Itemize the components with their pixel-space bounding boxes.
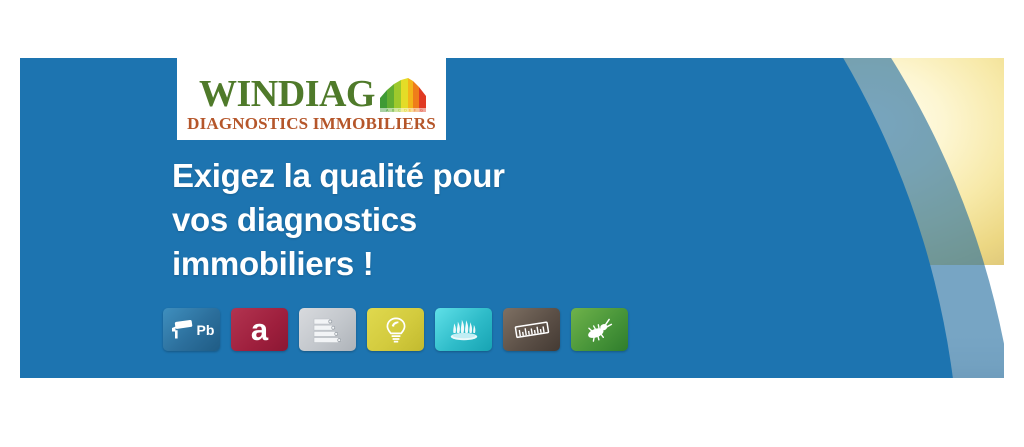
energy-bars-icon [311,317,345,343]
headline-line-2: vos diagnostics [172,198,602,242]
service-icon-strip: Pb a [163,308,628,351]
service-icon-electricite[interactable] [367,308,424,351]
plomb-label: Pb [197,322,215,338]
service-icon-plomb[interactable]: Pb [163,308,220,351]
svg-text:D: D [404,108,407,112]
asbestos-letter-a-icon: a [251,314,268,345]
headline-line-1: Exigez la qualité pour [172,154,602,198]
brand-logo[interactable]: WINDIAG A B C D [177,58,446,140]
service-icon-mesurage[interactable] [503,308,560,351]
paint-roller-lead-icon: Pb [169,319,215,341]
headline: Exigez la qualité pour vos diagnostics i… [172,154,602,286]
termite-insect-icon [584,318,616,342]
service-icon-termites[interactable] [571,308,628,351]
service-icon-dpe[interactable] [299,308,356,351]
svg-text:G: G [420,108,423,112]
svg-text:F: F [414,108,416,112]
headline-line-3: immobiliers ! [172,242,602,286]
page-root: WINDIAG A B C D [0,0,1024,447]
logo-wordmark: WINDIAG [199,75,375,113]
energy-rating-house-icon: A B C D E F G [378,72,428,114]
gas-burner-flame-icon [447,317,481,343]
service-icon-amiante[interactable]: a [231,308,288,351]
service-icon-gaz[interactable] [435,308,492,351]
tape-measure-ruler-icon [513,319,551,341]
logo-tagline: DIAGNOSTICS IMMOBILIERS [177,114,446,134]
lightbulb-icon [384,316,408,344]
logo-wordmark-row: WINDIAG A B C D [177,67,446,113]
hero-banner: WINDIAG A B C D [20,58,1004,378]
